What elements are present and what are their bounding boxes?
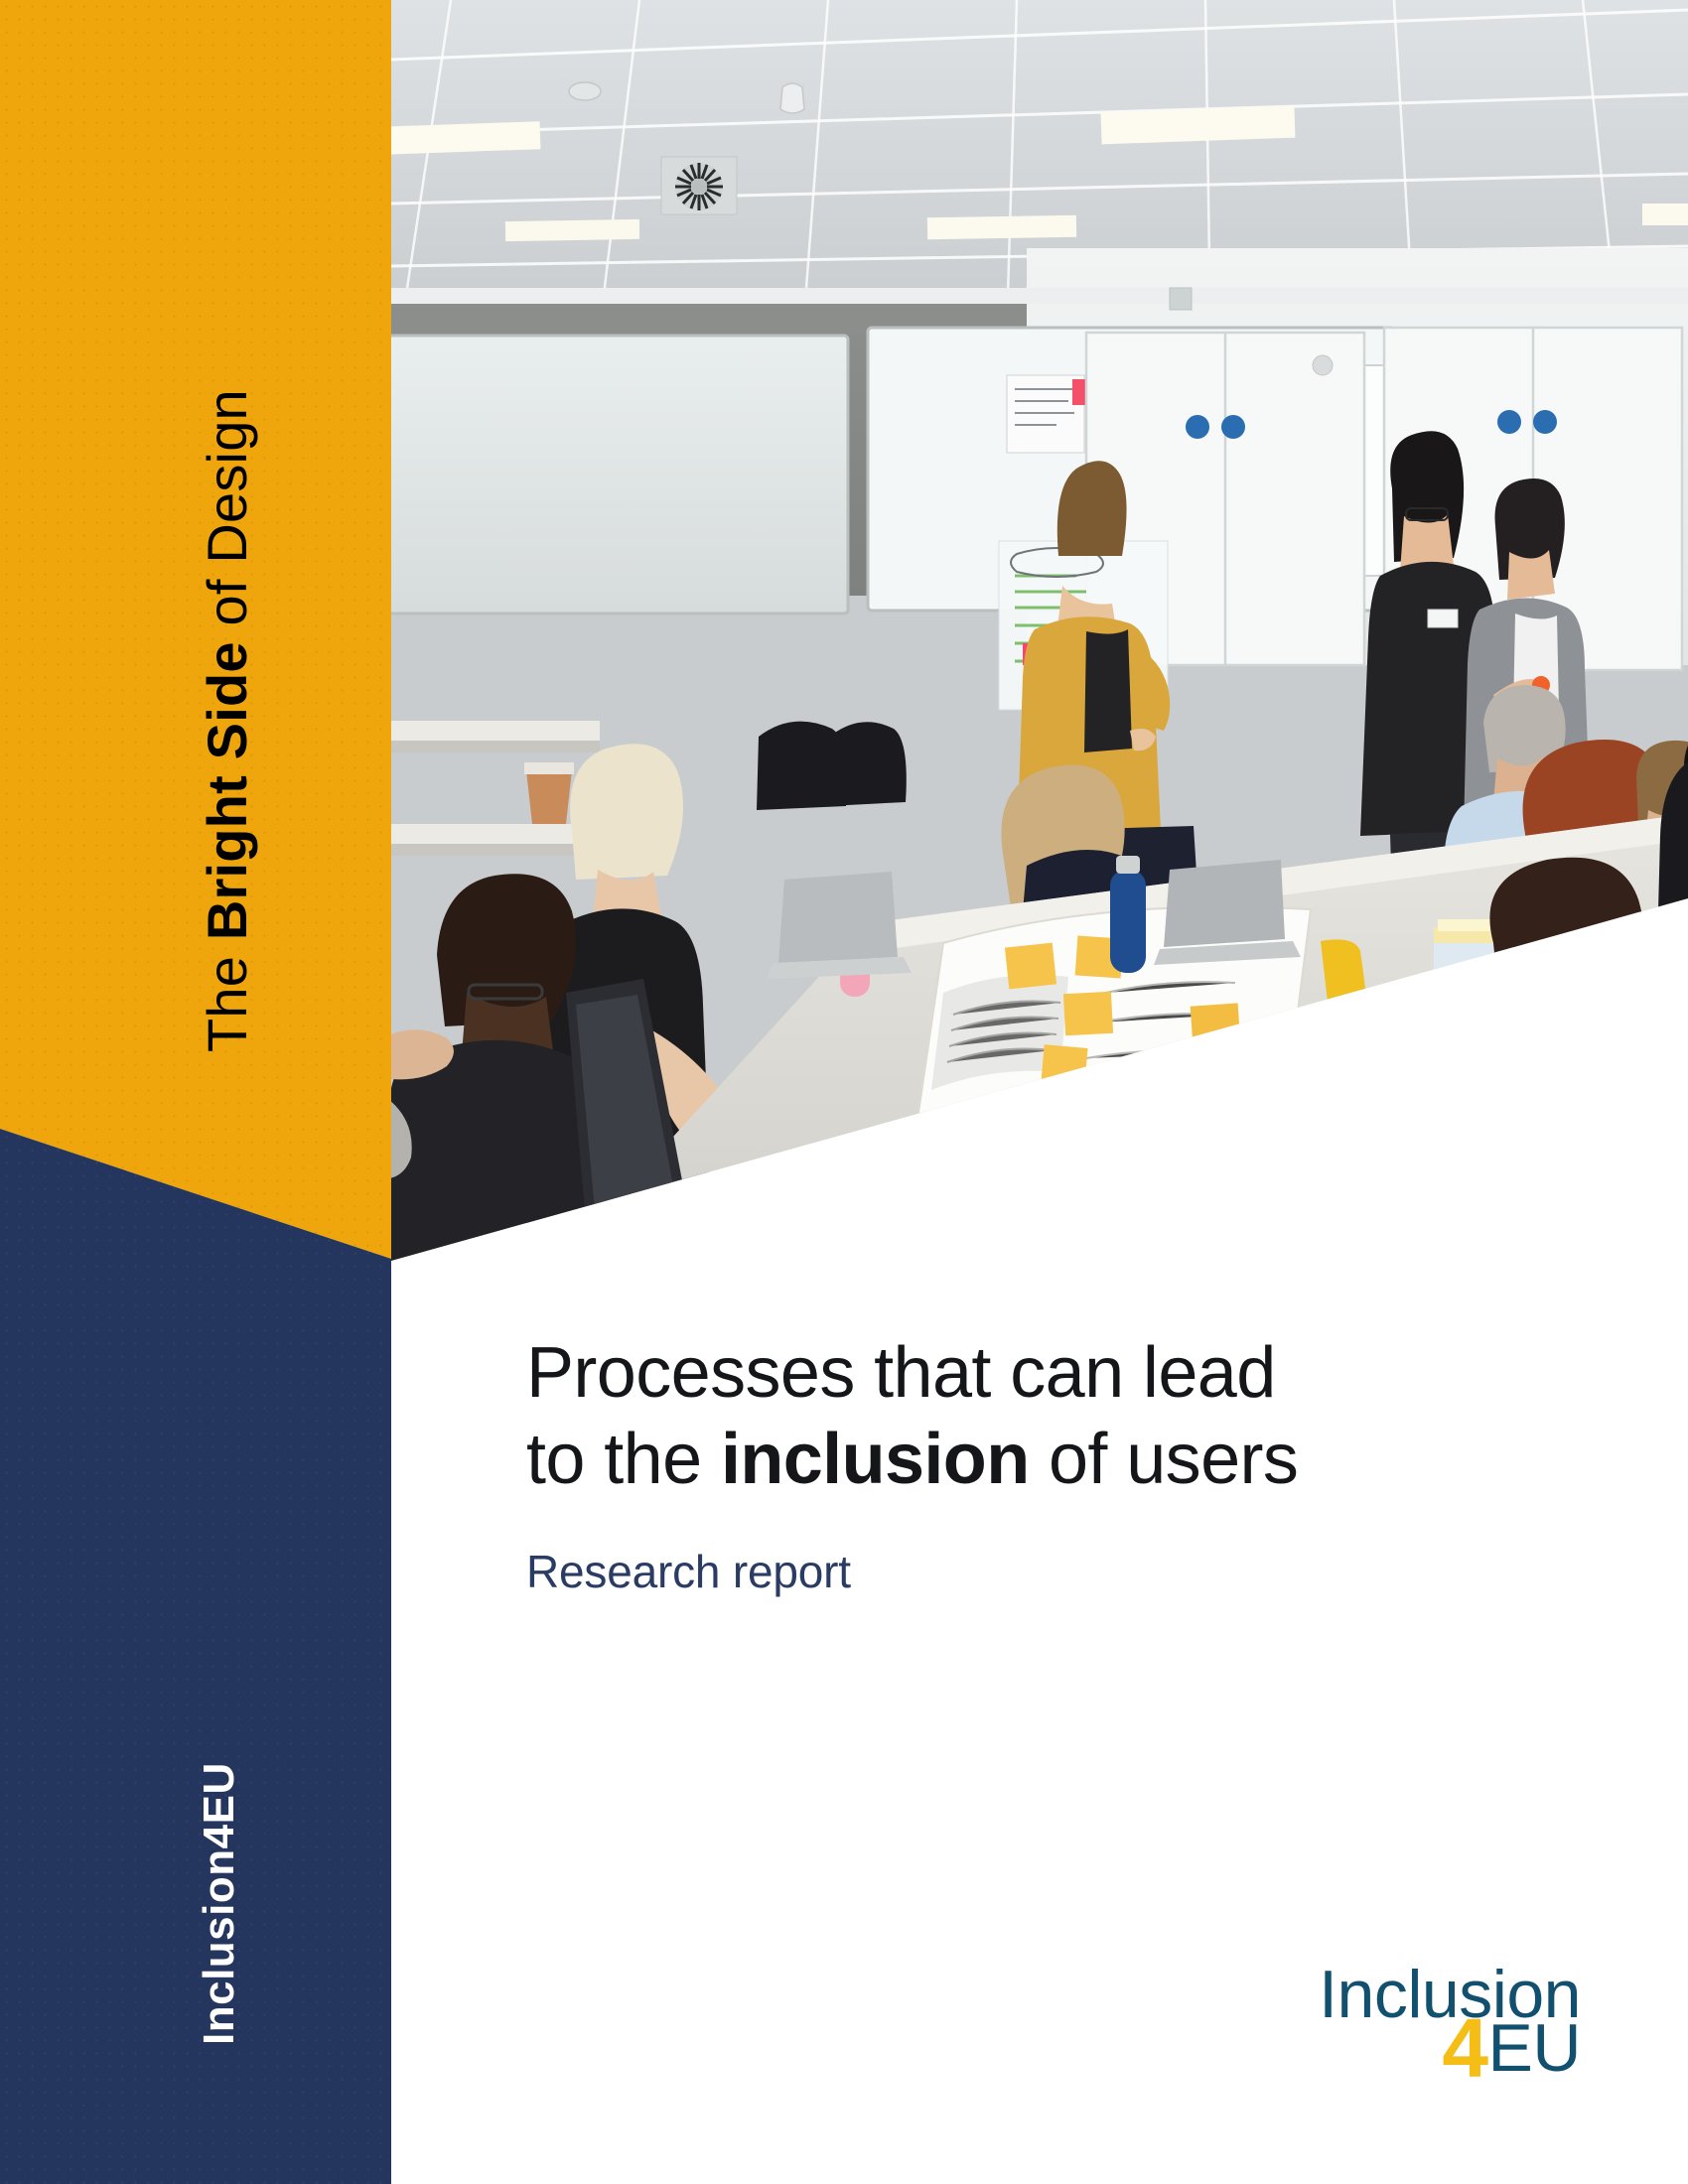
title-line-2-bold: inclusion xyxy=(721,1420,1030,1499)
report-cover-page: Coca xyxy=(0,0,1688,2184)
svg-text:Coca: Coca xyxy=(1095,1132,1141,1157)
title-line-2-suffix: of users xyxy=(1030,1420,1299,1499)
inclusion4eu-logo: Inclusion 4EU xyxy=(1319,1961,1581,2090)
logo-word-eu: EU xyxy=(1488,2010,1581,2086)
series-title-vertical: The Bright Side of Design xyxy=(195,389,259,1052)
series-title-suffix: of Design xyxy=(196,389,258,641)
project-name-vertical: Inclusion4EU xyxy=(195,1762,244,2045)
page-subtitle: Research report xyxy=(526,1545,1519,1598)
series-title-prefix: The xyxy=(196,940,258,1052)
workshop-photo-illustration: Coca xyxy=(391,0,1688,1261)
title-block: Processes that can lead to the inclusion… xyxy=(526,1330,1519,1598)
logo-digit-four: 4 xyxy=(1442,2001,1487,2095)
title-line-2-prefix: to the xyxy=(526,1420,721,1499)
series-title-bold: Bright Side xyxy=(196,641,258,940)
page-title: Processes that can lead to the inclusion… xyxy=(526,1330,1519,1503)
title-line-1: Processes that can lead xyxy=(526,1333,1276,1413)
cover-photograph: Coca xyxy=(391,0,1688,1261)
